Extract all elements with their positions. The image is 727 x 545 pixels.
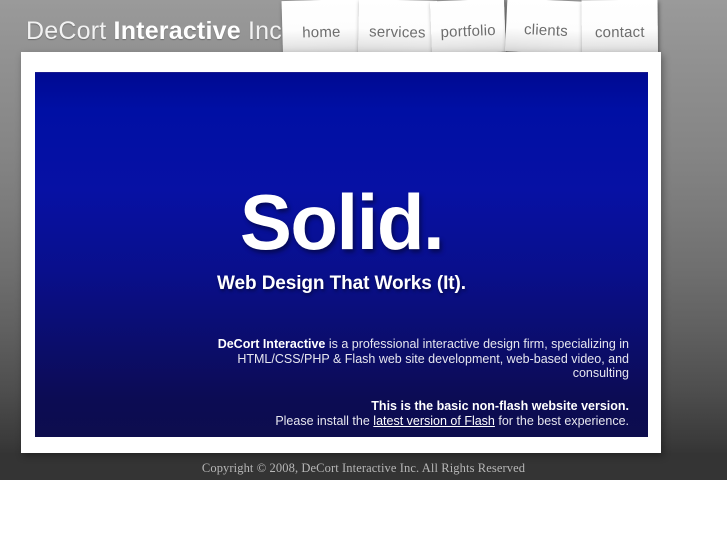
copyright-text: Copyright © 2008, DeCort Interactive Inc…	[0, 461, 727, 475]
flash-notice-heading: This is the basic non-flash website vers…	[129, 399, 629, 414]
main-navigation: home services portfolio clients contact	[0, 0, 727, 55]
nav-tab-home-label: home	[282, 23, 360, 42]
nav-tab-portfolio-label: portfolio	[431, 22, 506, 42]
hero-tagline: Web Design That Works (It).	[35, 273, 648, 295]
nav-tab-clients-label: clients	[506, 20, 587, 41]
company-blurb-brand: DeCort Interactive	[218, 337, 326, 351]
page-root: DeCort Interactive Inc. home services po…	[0, 0, 727, 545]
nav-tab-services-label: services	[358, 23, 436, 42]
nav-tab-clients[interactable]: clients	[505, 0, 587, 55]
hero-headline: Solid.	[35, 183, 648, 261]
flash-notice: This is the basic non-flash website vers…	[129, 399, 629, 429]
company-blurb: DeCort Interactive is a professional int…	[209, 337, 629, 381]
hero-stage: Solid. Web Design That Works (It). DeCor…	[35, 72, 648, 437]
flash-download-link[interactable]: latest version of Flash	[373, 414, 495, 428]
nav-tab-contact[interactable]: contact	[582, 0, 658, 53]
flash-notice-after: for the best experience.	[495, 414, 629, 428]
content-frame: Solid. Web Design That Works (It). DeCor…	[21, 52, 661, 453]
site-header: DeCort Interactive Inc. home services po…	[0, 0, 727, 55]
nav-tab-portfolio[interactable]: portfolio	[430, 0, 506, 54]
nav-tab-home[interactable]: home	[282, 0, 361, 54]
nav-tab-services[interactable]: services	[358, 0, 437, 54]
flash-notice-before: Please install the	[275, 414, 373, 428]
nav-tab-contact-label: contact	[582, 24, 658, 42]
